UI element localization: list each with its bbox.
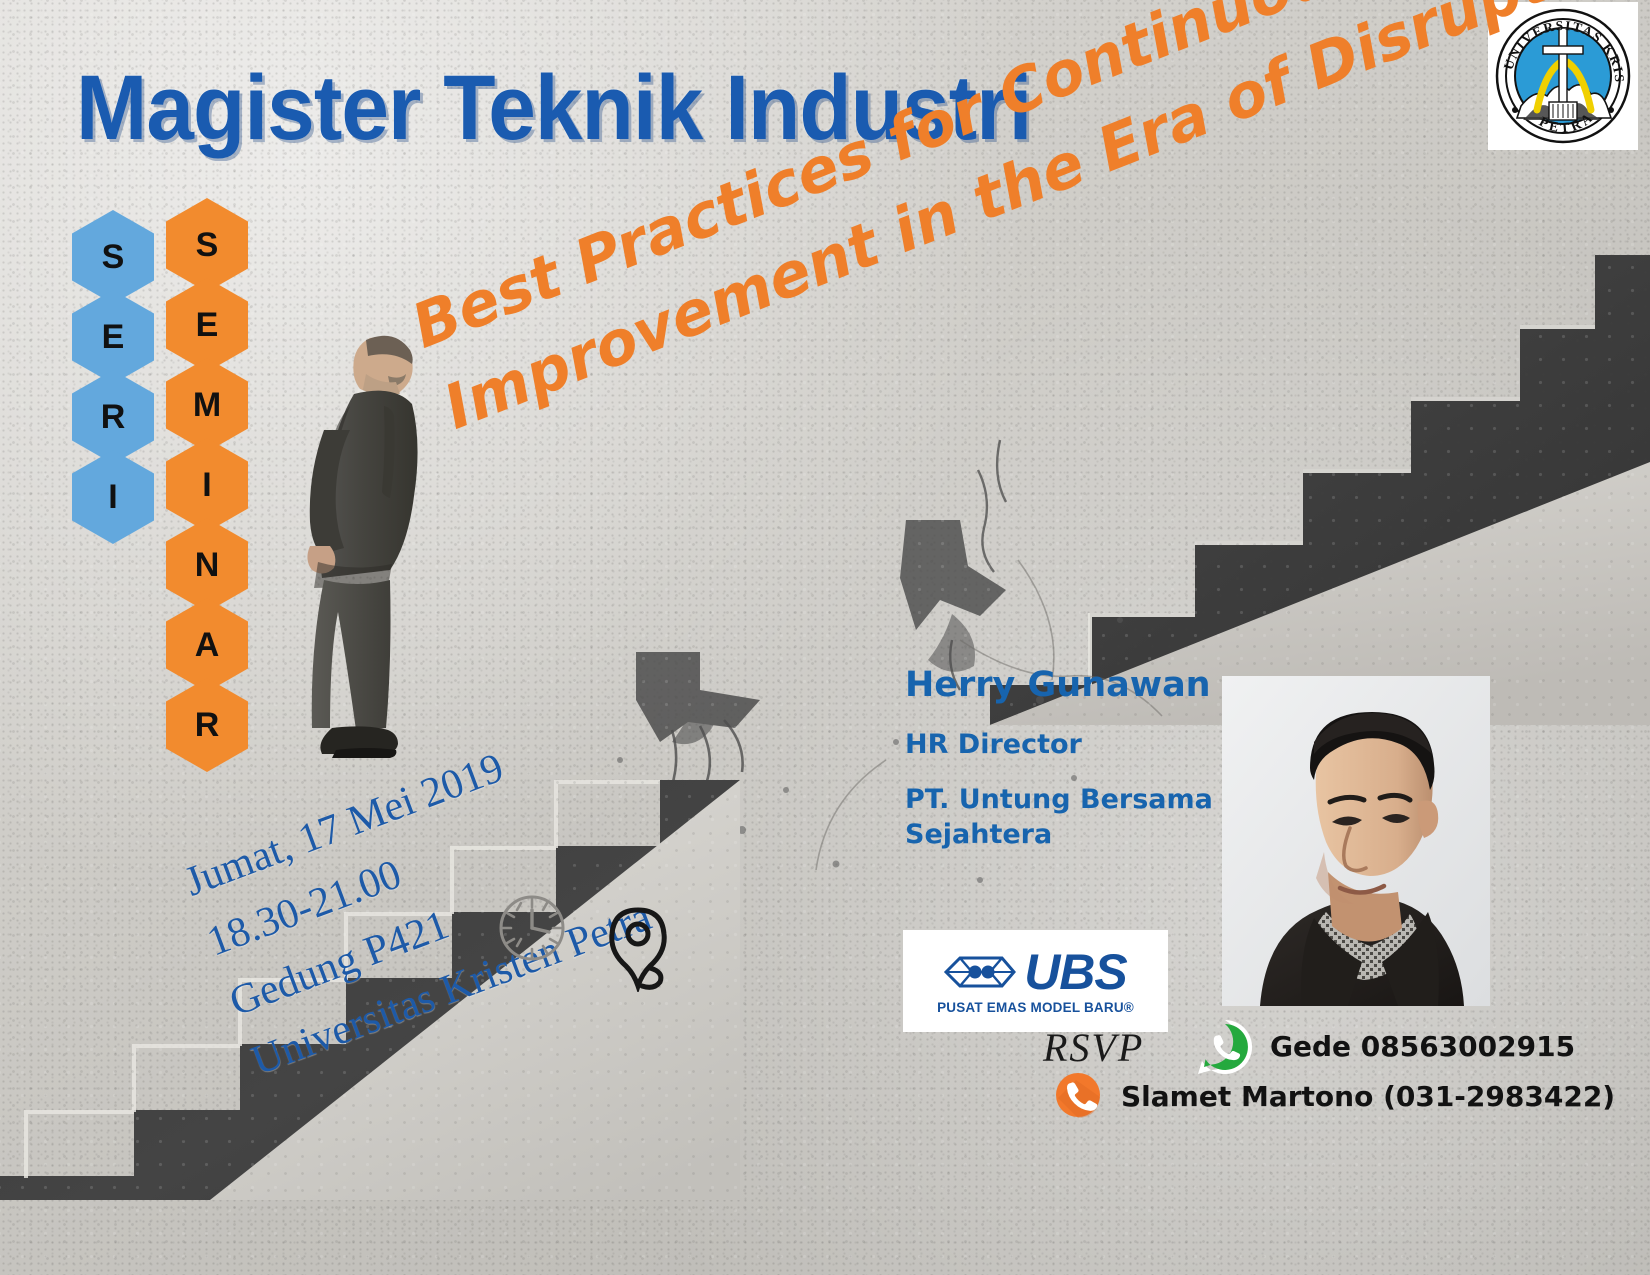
speaker-company-line-2: Sejahtera [905, 818, 1235, 853]
seri-badge-column: S E R I [72, 210, 154, 530]
seminar-badge-column: S E M I N A R [166, 198, 248, 758]
seminar-hex-letter: A [166, 598, 248, 692]
ubs-diamond-icon [944, 952, 1016, 992]
seri-hex-letter: I [72, 450, 154, 544]
ascending-staircase [895, 255, 1650, 725]
speaker-role: HR Director [905, 730, 1235, 760]
whatsapp-icon[interactable] [1196, 1018, 1254, 1076]
speaker-company: PT. Untung Bersama Sejahtera [905, 783, 1235, 852]
seminar-hex-letter: S [166, 198, 248, 292]
rsvp-label: RSVP [1043, 1024, 1144, 1071]
phone-contact: Slamet Martono (031-2983422) [1121, 1080, 1615, 1113]
phone-icon[interactable] [1055, 1072, 1101, 1118]
whatsapp-contact: Gede 08563002915 [1270, 1030, 1575, 1063]
seminar-hex-letter: E [166, 278, 248, 372]
seminar-hex-letter: R [166, 678, 248, 772]
clock-icon [492, 888, 572, 968]
speaker-portrait [1222, 676, 1490, 1006]
seminar-hex-letter: M [166, 358, 248, 452]
seminar-hex-letter: I [166, 438, 248, 532]
speaker-block: Herry Gunawan HR Director PT. Untung Ber… [905, 666, 1235, 852]
location-pin-icon [602, 904, 674, 992]
speaker-name: Herry Gunawan [905, 666, 1235, 705]
ubs-tagline: PUSAT EMAS MODEL BARU® [937, 1000, 1134, 1015]
ubs-logo: UBS PUSAT EMAS MODEL BARU® [903, 930, 1168, 1032]
seri-hex-letter: R [72, 370, 154, 464]
seminar-hex-letter: N [166, 518, 248, 612]
seri-hex-letter: S [72, 210, 154, 304]
businessman-figure [262, 318, 462, 798]
seminar-poster: Magister Teknik Industri [0, 0, 1650, 1275]
seri-hex-letter: E [72, 290, 154, 384]
ubs-wordmark: UBS [1024, 947, 1127, 997]
speaker-company-line-1: PT. Untung Bersama [905, 783, 1235, 818]
